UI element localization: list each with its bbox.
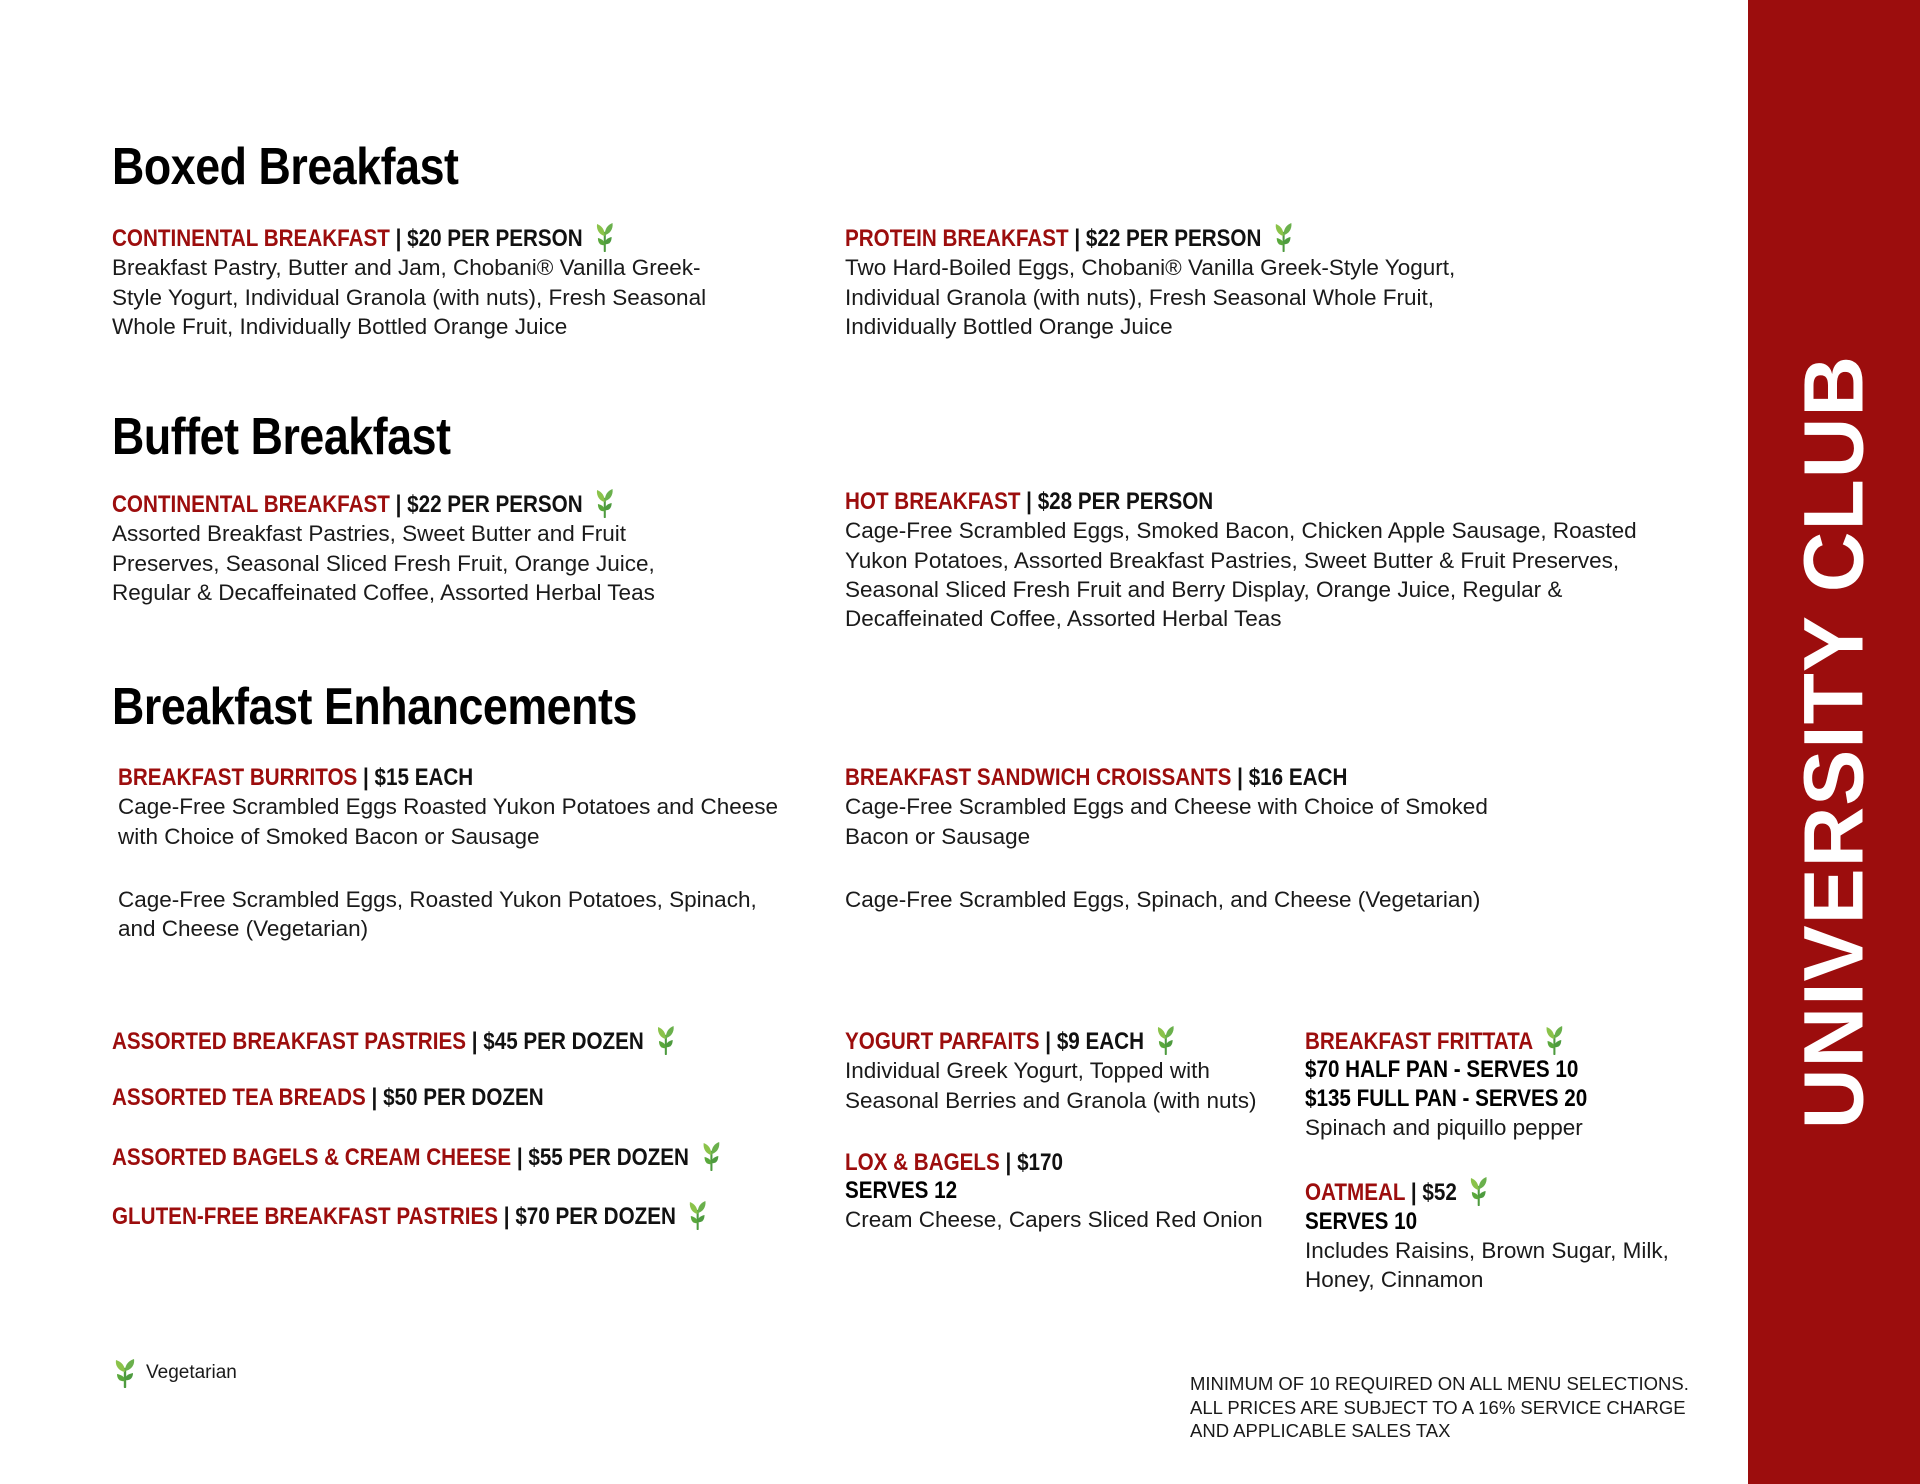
item-price: $50 PER DOZEN [383,1084,544,1111]
item-description: Two Hard-Boiled Eggs, Chobani® Vanilla G… [845,253,1485,341]
brand-sidebar: UNIVERSITY CLUB [1748,0,1920,1484]
vegetarian-sprout-icon [1272,222,1294,252]
menu-item-hot-breakfast: HOT BREAKFAST | $28 PER PERSON Cage-Free… [845,488,1645,633]
vegetarian-sprout-icon [1155,1025,1177,1055]
item-price: $15 EACH [375,764,474,791]
item-price: $16 EACH [1249,764,1348,791]
item-heading: PROTEIN BREAKFAST | $22 PER PERSON [845,222,1395,253]
item-description-vegetarian: Cage-Free Scrambled Eggs, Spinach, and C… [845,885,1525,914]
item-separator: | [1045,1028,1051,1055]
item-name: BREAKFAST FRITTATA [1305,1028,1532,1055]
item-name: LOX & BAGELS [845,1149,1000,1176]
item-heading: CONTINENTAL BREAKFAST | $22 PER PERSON [112,488,645,519]
item-description-vegetarian: Cage-Free Scrambled Eggs, Roasted Yukon … [118,885,798,944]
item-name: ASSORTED BAGELS & CREAM CHEESE [112,1144,511,1171]
vegetarian-sprout-icon [1468,1176,1490,1206]
menu-item-yogurt-parfaits: YOGURT PARFAITS | $9 EACH Individual Gre [845,1025,1275,1115]
item-price: $170 [1017,1149,1063,1176]
list-item: ASSORTED BREAKFAST PASTRIES | $45 PER DO… [112,1025,812,1056]
item-price: $55 PER DOZEN [528,1144,689,1171]
vegetarian-legend-label: Vegetarian [146,1362,237,1384]
item-name: YOGURT PARFAITS [845,1028,1040,1055]
item-name: CONTINENTAL BREAKFAST [112,491,390,518]
menu-item-protein-breakfast: PROTEIN BREAKFAST | $22 PER PERSON Two H… [845,222,1485,341]
item-separator: | [504,1203,510,1230]
item-half-pan-price: $70 HALF PAN - SERVES 10 [1305,1056,1675,1084]
item-name: PROTEIN BREAKFAST [845,225,1069,252]
item-description: Cream Cheese, Capers Sliced Red Onion [845,1205,1275,1234]
item-full-pan-price: $135 FULL PAN - SERVES 20 [1305,1085,1675,1113]
menu-page: UNIVERSITY CLUB Boxed Breakfast CONTINEN… [0,0,1920,1484]
vegetarian-legend: Vegetarian [112,1358,237,1388]
list-item: ASSORTED BAGELS & CREAM CHEESE | $55 PER… [112,1141,812,1172]
item-price: $9 EACH [1057,1028,1144,1055]
list-item: GLUTEN-FREE BREAKFAST PASTRIES | $70 PER… [112,1200,812,1231]
menu-item-continental-breakfast-buffet: CONTINENTAL BREAKFAST | $22 PER PERSON A… [112,488,732,607]
item-price: $28 PER PERSON [1038,488,1214,515]
item-heading: HOT BREAKFAST | $28 PER PERSON [845,488,1533,516]
vegetarian-sprout-icon [1543,1025,1565,1055]
item-name: HOT BREAKFAST [845,488,1020,515]
item-name: BREAKFAST BURRITOS [118,764,357,791]
menu-column-frittata-oatmeal: BREAKFAST FRITTATA $70 HALF PAN - SERVES… [1305,1025,1735,1294]
menu-content: Boxed Breakfast CONTINENTAL BREAKFAST | … [0,0,1748,1484]
footer-disclaimer: MINIMUM OF 10 REQUIRED ON ALL MENU SELEC… [1190,1372,1710,1443]
item-serves: SERVES 12 [845,1177,1215,1205]
item-heading: ASSORTED BAGELS & CREAM CHEESE | $55 PER… [112,1141,714,1172]
menu-item-breakfast-sandwich-croissants: BREAKFAST SANDWICH CROISSANTS | $16 EACH… [845,764,1525,914]
item-price: $22 PER PERSON [407,491,583,518]
item-name: OATMEAL [1305,1179,1405,1206]
item-price: $52 [1422,1179,1456,1206]
list-item: ASSORTED TEA BREADS | $50 PER DOZEN [112,1084,812,1112]
vegetarian-sprout-icon [655,1025,677,1055]
menu-column-parfaits-lox: YOGURT PARFAITS | $9 EACH Individual Gre [845,1025,1275,1235]
menu-item-lox-and-bagels: LOX & BAGELS | $170 SERVES 12 Cream Chee… [845,1149,1275,1235]
item-separator: | [396,225,402,252]
item-heading: LOX & BAGELS | $170 [845,1149,1215,1177]
item-heading: YOGURT PARFAITS | $9 EACH [845,1025,1215,1056]
item-description: Cage-Free Scrambled Eggs, Smoked Bacon, … [845,516,1645,633]
item-description: Assorted Breakfast Pastries, Sweet Butte… [112,519,732,607]
item-price: $70 PER DOZEN [515,1203,676,1230]
menu-item-breakfast-frittata: BREAKFAST FRITTATA $70 HALF PAN - SERVES… [1305,1025,1735,1142]
item-description: Individual Greek Yogurt, Topped with Sea… [845,1056,1275,1115]
item-separator: | [1237,764,1243,791]
item-name: ASSORTED TEA BREADS [112,1084,366,1111]
item-description: Spinach and piquillo pepper [1305,1113,1735,1142]
item-heading: GLUTEN-FREE BREAKFAST PASTRIES | $70 PER… [112,1200,714,1231]
item-description: Breakfast Pastry, Butter and Jam, Choban… [112,253,732,341]
item-separator: | [1026,488,1032,515]
item-price: $22 PER PERSON [1086,225,1262,252]
item-heading: BREAKFAST SANDWICH CROISSANTS | $16 EACH [845,764,1430,792]
item-heading: BREAKFAST BURRITOS | $15 EACH [118,764,703,792]
item-description: Includes Raisins, Brown Sugar, Milk, Hon… [1305,1236,1735,1295]
vegetarian-sprout-icon [700,1141,722,1171]
section-title-breakfast-enhancements: Breakfast Enhancements [112,680,637,735]
item-name: GLUTEN-FREE BREAKFAST PASTRIES [112,1203,498,1230]
item-heading: ASSORTED TEA BREADS | $50 PER DOZEN [112,1084,714,1112]
menu-item-oatmeal: OATMEAL | $52 SERVES 10 Includes [1305,1176,1735,1294]
item-separator: | [472,1028,478,1055]
section-title-boxed-breakfast: Boxed Breakfast [112,140,458,195]
item-heading: OATMEAL | $52 [1305,1176,1675,1207]
item-description: Cage-Free Scrambled Eggs and Cheese with… [845,792,1525,851]
item-price: $45 PER DOZEN [483,1028,644,1055]
item-heading: BREAKFAST FRITTATA [1305,1025,1675,1056]
menu-item-breakfast-burritos: BREAKFAST BURRITOS | $15 EACH Cage-Free … [118,764,798,943]
item-name: CONTINENTAL BREAKFAST [112,225,390,252]
item-name: BREAKFAST SANDWICH CROISSANTS [845,764,1231,791]
vegetarian-sprout-icon [112,1358,138,1388]
item-separator: | [372,1084,378,1111]
item-separator: | [1006,1149,1012,1176]
vegetarian-sprout-icon [594,488,616,518]
item-description: Cage-Free Scrambled Eggs Roasted Yukon P… [118,792,798,851]
brand-name: UNIVERSITY CLUB [1786,355,1883,1129]
item-separator: | [1074,225,1080,252]
item-price: $20 PER PERSON [407,225,583,252]
item-serves: SERVES 10 [1305,1208,1675,1236]
item-separator: | [396,491,402,518]
item-separator: | [1411,1179,1417,1206]
vegetarian-sprout-icon [594,222,616,252]
menu-item-continental-breakfast-boxed: CONTINENTAL BREAKFAST | $20 PER PERSON B… [112,222,732,341]
item-separator: | [517,1144,523,1171]
item-name: ASSORTED BREAKFAST PASTRIES [112,1028,466,1055]
vegetarian-sprout-icon [687,1200,709,1230]
price-list-column-dozen: ASSORTED BREAKFAST PASTRIES | $45 PER DO… [112,1025,812,1259]
item-separator: | [363,764,369,791]
section-title-buffet-breakfast: Buffet Breakfast [112,410,451,465]
item-heading: CONTINENTAL BREAKFAST | $20 PER PERSON [112,222,645,253]
item-heading: ASSORTED BREAKFAST PASTRIES | $45 PER DO… [112,1025,714,1056]
